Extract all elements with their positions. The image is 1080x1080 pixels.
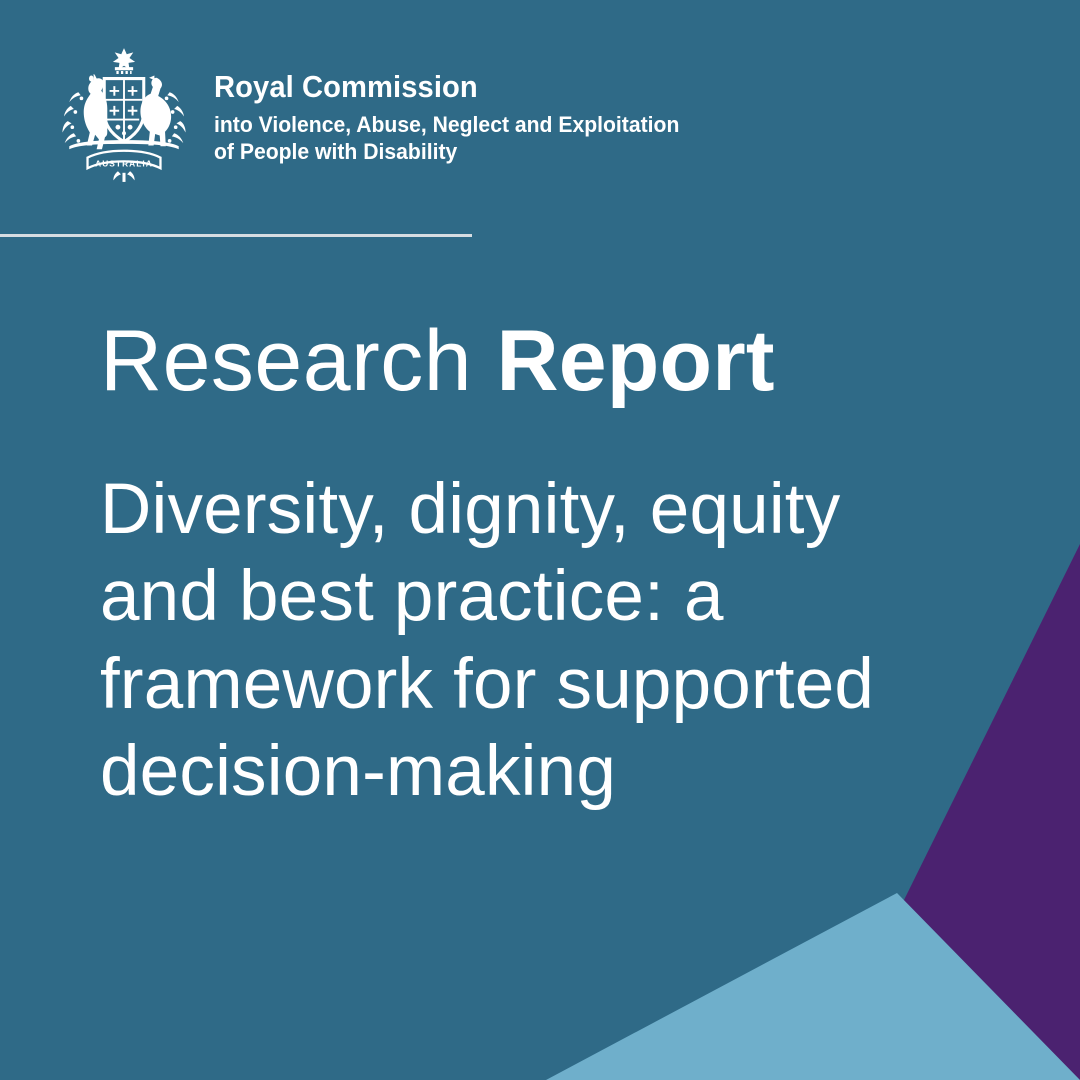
- page-title-bold-word: Report: [496, 313, 774, 409]
- masthead-title: Royal Commission: [214, 71, 679, 104]
- report-cover-page: AUSTRALIA Royal Commission into Violence…: [0, 0, 1080, 1080]
- masthead: AUSTRALIA Royal Commission into Violence…: [48, 42, 709, 182]
- masthead-subtitle-line-2: of People with Disability: [214, 138, 679, 165]
- masthead-subtitle-line-1: into Violence, Abuse, Neglect and Exploi…: [214, 111, 679, 138]
- australian-coat-of-arms-icon: AUSTRALIA: [48, 42, 200, 182]
- svg-text:AUSTRALIA: AUSTRALIA: [95, 159, 153, 169]
- page-title-light-word: Research: [100, 313, 496, 409]
- header-divider-rule: [0, 234, 472, 237]
- masthead-text-block: Royal Commission into Violence, Abuse, N…: [214, 42, 709, 166]
- page-title: Research Report: [100, 318, 775, 404]
- light-blue-triangle: [546, 893, 1080, 1080]
- page-subtitle: Diversity, dignity, equity and best prac…: [100, 466, 930, 815]
